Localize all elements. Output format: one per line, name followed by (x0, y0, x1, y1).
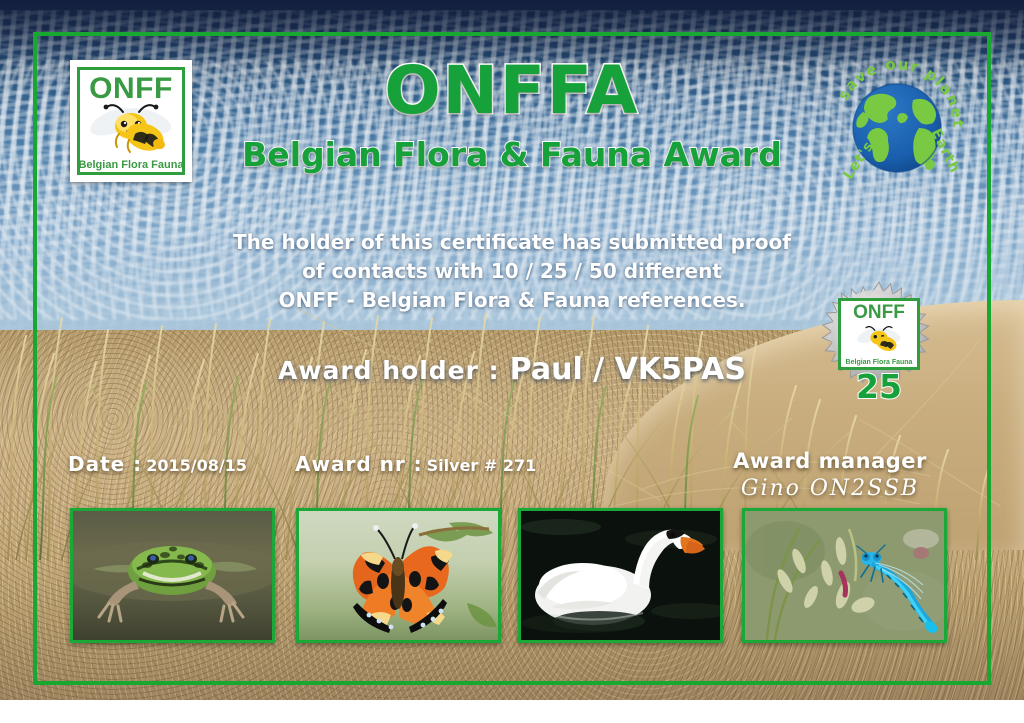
award-seal: ONFF Belgian Flora Fauna 25 (812, 278, 946, 412)
seal-logo-subtitle: Belgian Flora Fauna (846, 359, 913, 366)
date-label: Date : (68, 452, 142, 476)
dragonfly-photo (742, 508, 947, 643)
award-manager-signature: Gino ON2SSB (700, 476, 960, 501)
award-manager-label: Award manager (700, 450, 960, 473)
seal-number: 25 (812, 370, 946, 403)
frog-photo (70, 508, 275, 643)
date-field: Date :2015/08/15 (68, 452, 247, 476)
butterfly-photo (296, 508, 501, 643)
award-holder-label: Award holder : (278, 356, 500, 385)
certificate-title: ONFFA (0, 58, 1024, 124)
title-block: ONFFA Belgian Flora & Fauna Award (0, 58, 1024, 171)
seal-logo-word: ONFF (853, 303, 905, 322)
award-number-value: Silver # 271 (427, 456, 537, 475)
award-number-field: Award nr :Silver # 271 (295, 452, 536, 476)
certificate-subtitle: Belgian Flora & Fauna Award (0, 138, 1024, 171)
bottom-white-margin (0, 700, 1024, 723)
body-line-1: The holder of this certificate has submi… (0, 228, 1024, 257)
award-manager-block: Award manager Gino ON2SSB (700, 450, 960, 501)
date-value: 2015/08/15 (146, 456, 247, 475)
seal-onff-logo: ONFF Belgian Flora Fauna (838, 298, 920, 370)
award-number-label: Award nr : (295, 452, 423, 476)
onffa-certificate: ONFF (0, 0, 1024, 723)
seal-bee-icon (850, 322, 908, 359)
award-holder-value: Paul / VK5PAS (510, 352, 746, 387)
swan-photo (518, 508, 723, 643)
